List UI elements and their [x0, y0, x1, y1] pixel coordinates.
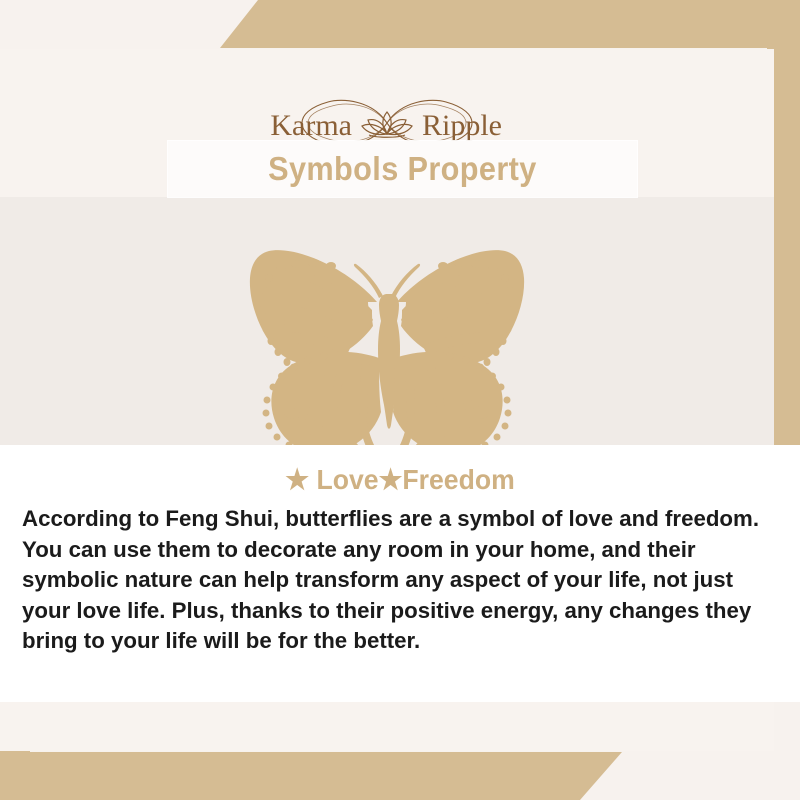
frame-band-top: [220, 0, 800, 48]
brand-name-left: Karma: [270, 109, 352, 142]
brand-name-right: Ripple: [422, 109, 502, 142]
content-subtitle: ★ Love★Freedom: [20, 463, 780, 496]
content-body: According to Feng Shui, butterflies are …: [22, 504, 767, 657]
page-title: Symbols Property: [268, 150, 537, 188]
butterfly-icon: [201, 240, 573, 455]
frame-band-bottom: [0, 752, 622, 800]
title-banner: Symbols Property: [168, 141, 637, 197]
description-section: ★ Love★Freedom According to Feng Shui, b…: [0, 445, 800, 702]
poster-page: Karma Ripple Symbols Property: [0, 0, 800, 800]
